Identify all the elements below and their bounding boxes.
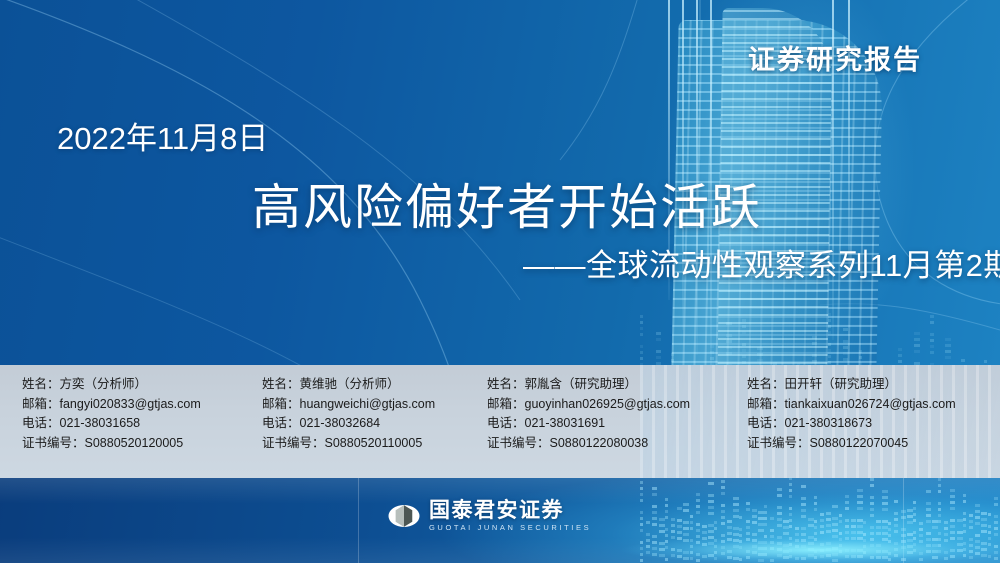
author-cert-line: 证书编号：S0880520120005 [22,434,201,454]
author-cert-line: 证书编号：S0880122080038 [487,434,690,454]
company-logo: 国泰君安证券 GUOTAI JUNAN SECURITIES [388,500,591,532]
author-block: 姓名：田开轩（研究助理） 邮箱：tiankaixuan026724@gtjas.… [747,365,956,453]
author-name-line: 姓名：田开轩（研究助理） [747,375,956,395]
logo-chinese-name: 国泰君安证券 [429,500,591,521]
footer-horizon-glow [600,530,1000,563]
report-type-tag: 证券研究报告 [748,38,922,77]
author-email-line[interactable]: 邮箱：huangweichi@gtjas.com [262,395,435,415]
author-cert-line: 证书编号：S0880520110005 [262,434,435,454]
page-subtitle: ——全球流动性观察系列11月第2期 [523,240,1000,285]
logo-wordmark: 国泰君安证券 GUOTAI JUNAN SECURITIES [429,500,591,532]
author-email-line[interactable]: 邮箱：guoyinhan026925@gtjas.com [487,395,690,415]
author-block: 姓名：郭胤含（研究助理） 邮箱：guoyinhan026925@gtjas.co… [487,365,690,453]
author-name-line: 姓名：方奕（分析师） [22,375,201,395]
author-email-line[interactable]: 邮箱：fangyi020833@gtjas.com [22,395,201,415]
author-name-line: 姓名：黄维驰（分析师） [262,375,435,395]
author-cert-line: 证书编号：S0880122070045 [747,434,956,454]
author-phone-line: 电话：021-38031658 [22,414,201,434]
author-block: 姓名：方奕（分析师） 邮箱：fangyi020833@gtjas.com 电话：… [22,365,201,453]
authors-band: 姓名：方奕（分析师） 邮箱：fangyi020833@gtjas.com 电话：… [0,365,1000,478]
author-name-line: 姓名：郭胤含（研究助理） [487,375,690,395]
logo-english-name: GUOTAI JUNAN SECURITIES [429,524,591,532]
report-cover-slide: 证券研究报告 2022年11月8日 高风险偏好者开始活跃 ——全球流动性观察系列… [0,0,1000,563]
author-phone-line: 电话：021-38031691 [487,414,690,434]
author-phone-line: 电话：021-380318673 [747,414,956,434]
gtja-logo-icon [388,500,420,532]
author-block: 姓名：黄维驰（分析师） 邮箱：huangweichi@gtjas.com 电话：… [262,365,435,453]
page-title: 高风险偏好者开始活跃 [252,168,762,239]
author-phone-line: 电话：021-38032684 [262,414,435,434]
report-date: 2022年11月8日 [57,113,268,158]
author-email-line[interactable]: 邮箱：tiankaixuan026724@gtjas.com [747,395,956,415]
footer-divider [358,478,359,563]
